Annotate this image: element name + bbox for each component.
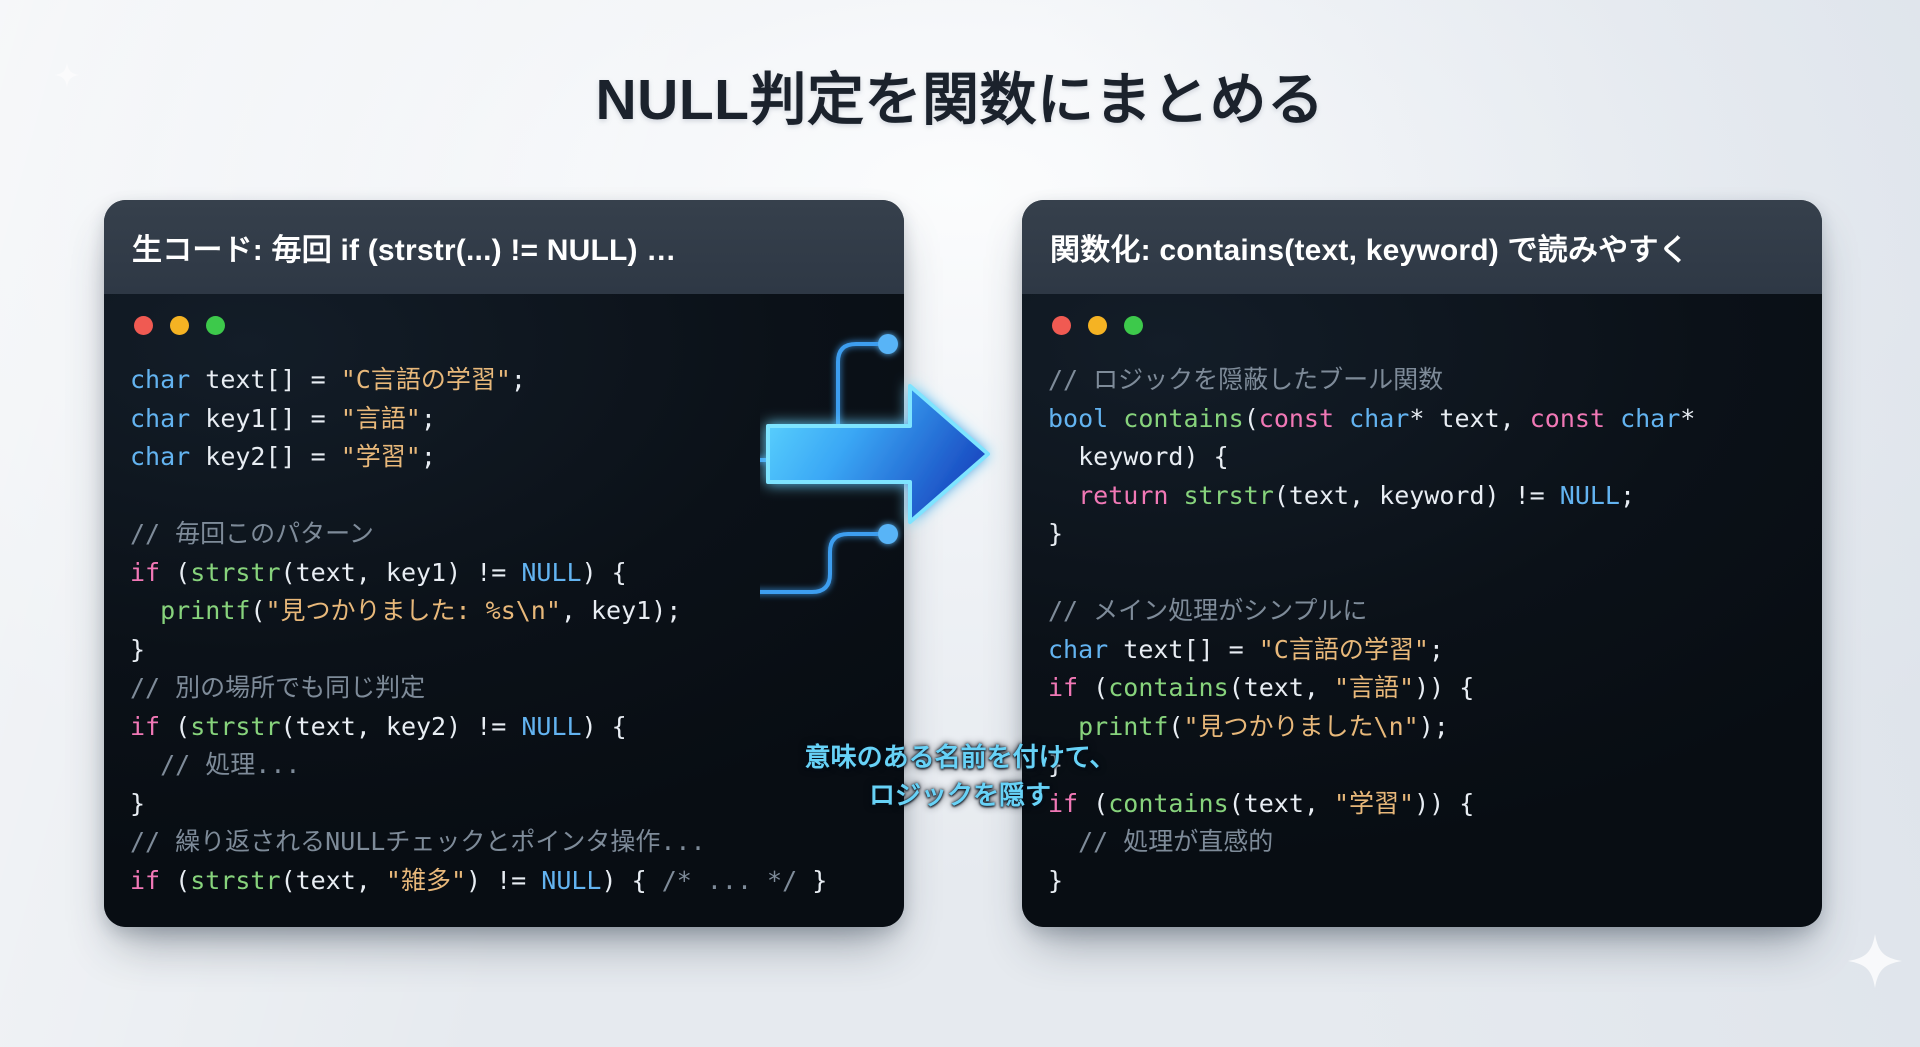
- code-token-plain: }: [130, 635, 145, 664]
- code-block-before: char text[] = "C言語の学習";char key1[] = "言語…: [130, 361, 878, 900]
- code-token-type: char: [1349, 404, 1409, 433]
- code-token-com: // メイン処理がシンプルに: [1048, 596, 1367, 625]
- annotation-line-1: 意味のある名前を付けて、: [700, 738, 1220, 776]
- code-line: bool contains(const char* text, const ch…: [1048, 400, 1796, 439]
- code-token-plain: =: [311, 404, 341, 433]
- code-token-plain: ;: [421, 442, 436, 471]
- code-token-plain: *: [1680, 404, 1695, 433]
- code-token-plain: text[]: [1108, 635, 1228, 664]
- code-token-plain: ;: [511, 365, 526, 394]
- code-token-plain: [1048, 481, 1078, 510]
- code-token-plain: (text,: [1229, 673, 1334, 702]
- code-token-plain: );: [1419, 712, 1449, 741]
- code-panel-after: 関数化: contains(text, keyword) で読みやすく // ロ…: [1022, 200, 1822, 927]
- code-panel-before: 生コード: 毎回 if (strstr(...) != NULL) … char…: [104, 200, 904, 927]
- annotation-line-2: ロジックを隠す: [700, 776, 1220, 814]
- code-token-plain: ) !=: [466, 866, 541, 895]
- code-token-plain: key2[]: [190, 442, 310, 471]
- code-token-plain: )) {: [1414, 673, 1474, 702]
- window-maximize-dot[interactable]: [1124, 316, 1143, 335]
- code-line: if (strstr(text, key1) != NULL) {: [130, 554, 878, 593]
- code-token-plain: [1048, 712, 1078, 741]
- code-token-fn: strstr: [190, 712, 280, 741]
- panel-body-after: // ロジックを隠蔽したブール関数bool contains(const cha…: [1022, 294, 1822, 927]
- code-line: char text[] = "C言語の学習";: [1048, 631, 1796, 670]
- code-line: if (contains(text, "言語")) {: [1048, 669, 1796, 708]
- code-line: [1048, 554, 1796, 593]
- code-line: char text[] = "C言語の学習";: [130, 361, 878, 400]
- code-token-type: NULL: [1560, 481, 1620, 510]
- code-token-plain: (: [1244, 404, 1259, 433]
- page-title: NULL判定を関数にまとめる: [0, 54, 1920, 136]
- annotation-caption: 意味のある名前を付けて、 ロジックを隠す: [700, 738, 1220, 814]
- code-token-plain: =: [311, 365, 341, 394]
- code-line: // 毎回このパターン: [130, 515, 878, 554]
- code-token-plain: [1605, 404, 1620, 433]
- code-token-plain: }: [1048, 866, 1063, 895]
- code-token-str: "C言語の学習": [341, 365, 511, 394]
- code-token-key: const: [1259, 404, 1334, 433]
- code-token-plain: * text,: [1409, 404, 1529, 433]
- window-controls-after: [1048, 316, 1796, 335]
- code-token-plain: (: [1168, 712, 1183, 741]
- code-token-str: "学習": [341, 442, 421, 471]
- code-line: // メイン処理がシンプルに: [1048, 592, 1796, 631]
- code-token-com: /* ... */: [662, 866, 797, 895]
- code-token-com: // 別の場所でも同じ判定: [130, 673, 425, 702]
- window-close-dot[interactable]: [1052, 316, 1071, 335]
- code-token-key: const: [1530, 404, 1605, 433]
- code-token-plain: [1168, 481, 1183, 510]
- code-token-plain: ) {: [582, 558, 627, 587]
- code-token-plain: [130, 750, 160, 779]
- window-minimize-dot[interactable]: [1088, 316, 1107, 335]
- code-line: return strstr(text, keyword) != NULL;: [1048, 477, 1796, 516]
- code-token-com: // ロジックを隠蔽したブール関数: [1048, 365, 1443, 394]
- code-token-plain: }: [130, 789, 145, 818]
- code-token-type: NULL: [521, 712, 581, 741]
- code-token-plain: (: [1078, 673, 1108, 702]
- code-token-plain: [1334, 404, 1349, 433]
- code-token-plain: (text,: [281, 866, 386, 895]
- code-token-key: if: [130, 712, 160, 741]
- code-token-plain: (: [160, 712, 190, 741]
- code-line: // 別の場所でも同じ判定: [130, 669, 878, 708]
- code-token-plain: (text, key2) !=: [281, 712, 522, 741]
- code-token-fn: contains: [1108, 673, 1228, 702]
- code-token-type: NULL: [521, 558, 581, 587]
- code-token-fn: strstr: [190, 558, 280, 587]
- code-line: // 繰り返されるNULLチェックとポインタ操作...: [130, 823, 878, 862]
- panel-title-before: 生コード: 毎回 if (strstr(...) != NULL) …: [132, 225, 676, 269]
- code-token-plain: (text,: [1229, 789, 1334, 818]
- code-token-plain: }: [797, 866, 827, 895]
- code-token-fn: printf: [160, 596, 250, 625]
- code-token-type: char: [130, 365, 190, 394]
- code-token-fn: printf: [1078, 712, 1168, 741]
- code-token-plain: (: [250, 596, 265, 625]
- code-token-plain: =: [1229, 635, 1259, 664]
- code-token-fn: contains: [1123, 404, 1243, 433]
- code-token-type: char: [1048, 635, 1108, 664]
- code-token-str: "学習": [1334, 789, 1414, 818]
- code-token-plain: ;: [1620, 481, 1635, 510]
- code-line: }: [1048, 515, 1796, 554]
- code-token-plain: text[]: [190, 365, 310, 394]
- code-token-plain: (: [160, 558, 190, 587]
- code-line: // 処理が直感的: [1048, 823, 1796, 862]
- code-line: }: [130, 631, 878, 670]
- code-token-plain: ) {: [601, 866, 661, 895]
- code-token-plain: (text, keyword) !=: [1274, 481, 1560, 510]
- code-line: keyword) {: [1048, 438, 1796, 477]
- code-token-type: char: [1620, 404, 1680, 433]
- code-token-com: // 処理...: [160, 750, 300, 779]
- code-token-plain: ) {: [582, 712, 627, 741]
- panel-header-after: 関数化: contains(text, keyword) で読みやすく: [1022, 200, 1822, 294]
- window-close-dot[interactable]: [134, 316, 153, 335]
- code-token-plain: keyword) {: [1048, 442, 1229, 471]
- code-token-type: char: [130, 404, 190, 433]
- code-token-str: "C言語の学習": [1259, 635, 1429, 664]
- code-token-type: NULL: [541, 866, 601, 895]
- code-token-plain: ;: [421, 404, 436, 433]
- code-token-str: "雑多": [386, 866, 466, 895]
- code-line: // ロジックを隠蔽したブール関数: [1048, 361, 1796, 400]
- code-token-str: "見つかりました\n": [1183, 712, 1418, 741]
- code-token-fn: strstr: [1183, 481, 1273, 510]
- panel-title-after: 関数化: contains(text, keyword) で読みやすく: [1050, 225, 1689, 269]
- code-token-plain: [1108, 404, 1123, 433]
- code-token-plain: ;: [1429, 635, 1444, 664]
- code-token-plain: (text, key1) !=: [281, 558, 522, 587]
- window-minimize-dot[interactable]: [170, 316, 189, 335]
- code-token-plain: (: [160, 866, 190, 895]
- code-token-plain: , key1);: [561, 596, 681, 625]
- code-block-after: // ロジックを隠蔽したブール関数bool contains(const cha…: [1048, 361, 1796, 900]
- code-token-plain: [1048, 827, 1078, 856]
- code-token-com: // 繰り返されるNULLチェックとポインタ操作...: [130, 827, 706, 856]
- code-token-key: if: [1048, 673, 1078, 702]
- window-controls-before: [130, 316, 878, 335]
- code-line: if (strstr(text, "雑多") != NULL) { /* ...…: [130, 862, 878, 901]
- code-line: char key1[] = "言語";: [130, 400, 878, 439]
- code-line: [130, 477, 878, 516]
- code-token-plain: }: [1048, 519, 1063, 548]
- code-token-type: char: [130, 442, 190, 471]
- code-line: }: [1048, 862, 1796, 901]
- code-token-com: // 毎回このパターン: [130, 519, 374, 548]
- panel-header-before: 生コード: 毎回 if (strstr(...) != NULL) …: [104, 200, 904, 294]
- sparkle-icon: [1846, 932, 1904, 990]
- code-token-plain: [130, 596, 160, 625]
- code-token-com: // 処理が直感的: [1078, 827, 1273, 856]
- window-maximize-dot[interactable]: [206, 316, 225, 335]
- code-token-plain: key1[]: [190, 404, 310, 433]
- code-token-fn: strstr: [190, 866, 280, 895]
- code-token-key: if: [130, 558, 160, 587]
- code-token-str: "見つかりました: %s\n": [265, 596, 560, 625]
- code-token-str: "言語": [1334, 673, 1414, 702]
- code-line: char key2[] = "学習";: [130, 438, 878, 477]
- code-token-str: "言語": [341, 404, 421, 433]
- code-token-key: if: [130, 866, 160, 895]
- code-token-plain: )) {: [1414, 789, 1474, 818]
- code-line: printf("見つかりました: %s\n", key1);: [130, 592, 878, 631]
- code-token-type: bool: [1048, 404, 1108, 433]
- code-token-plain: =: [311, 442, 341, 471]
- panel-body-before: char text[] = "C言語の学習";char key1[] = "言語…: [104, 294, 904, 927]
- code-token-key: return: [1078, 481, 1168, 510]
